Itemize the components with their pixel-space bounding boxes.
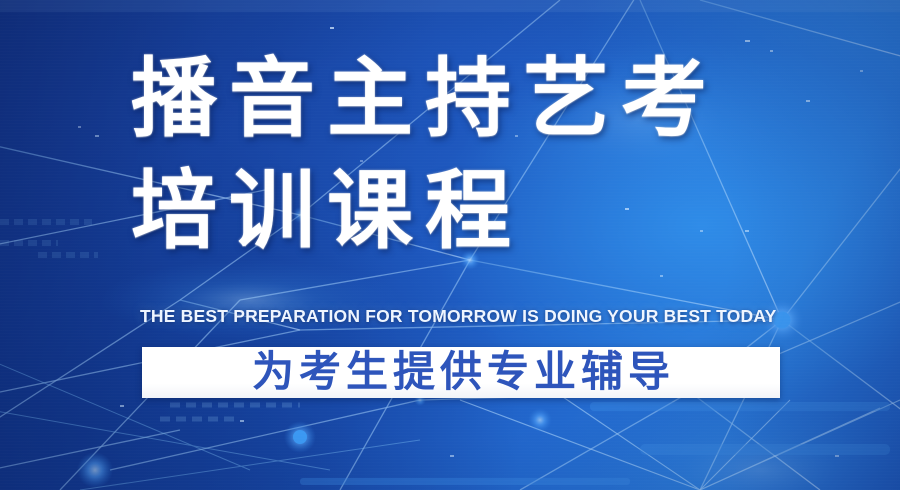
- headline-line-2: 培训课程: [131, 168, 523, 254]
- subtitle-ribbon-text: 为考生提供专业辅导: [142, 351, 780, 393]
- banner-content: 播音主持艺考 培训课程 THE BEST PREPARATION FOR TOM…: [0, 0, 900, 490]
- english-tagline: THE BEST PREPARATION FOR TOMORROW IS DOI…: [140, 306, 724, 327]
- subtitle-ribbon: 为考生提供专业辅导: [142, 347, 780, 398]
- promo-banner: 播音主持艺考 培训课程 THE BEST PREPARATION FOR TOM…: [0, 0, 900, 490]
- headline-line-1: 播音主持艺考: [131, 56, 719, 142]
